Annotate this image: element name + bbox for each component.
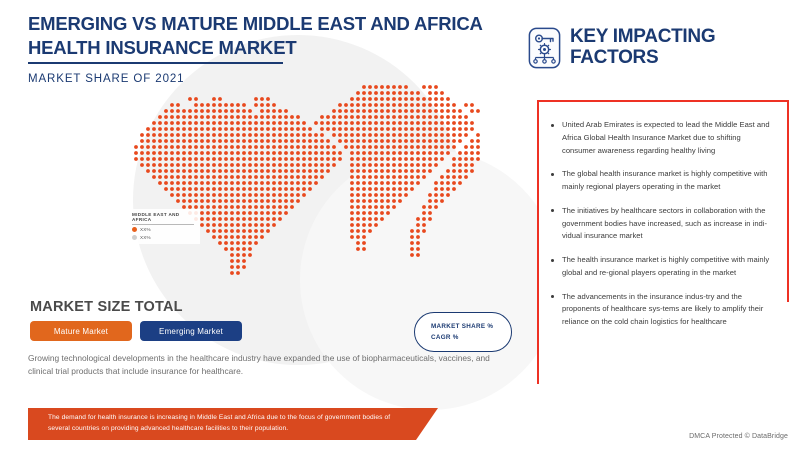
key-factors-list: United Arab Emirates is expected to lead… [551,119,774,329]
title-line-2: HEALTH INSURANCE MARKET [28,36,498,60]
description-paragraph: Growing technological developments in th… [28,352,490,379]
callout-line-1: MARKET SHARE % [431,321,495,332]
list-item: The advancements in the insurance indus-… [551,291,774,329]
title-underline [28,62,283,64]
key-gear-network-icon [528,27,561,69]
legend-row: XX% [132,235,194,240]
title-line-1: EMERGING VS MATURE MIDDLE EAST AND AFRIC… [28,12,498,36]
bullet-icon [551,254,562,280]
chip-mature-market[interactable]: Mature Market [30,321,132,341]
dotted-world-map [120,75,480,320]
orange-dot-icon [132,227,137,232]
legend-value: XX% [140,235,151,240]
bullet-icon [551,205,562,243]
left-section: EMERGING VS MATURE MIDDLE EAST AND AFRIC… [0,0,515,450]
key-factors-title-line-2: FACTORS [570,48,715,69]
legend-row: XX% [132,227,194,232]
market-share-callout: MARKET SHARE % CAGR % [414,312,512,352]
list-item: The health insurance market is highly co… [551,254,774,280]
list-item: The global health insurance market is hi… [551,168,774,194]
market-legend-chips: Mature Market Emerging Market [30,321,242,341]
bullet-icon [551,291,562,329]
legend-title: MIDDLE EAST AND AFRICA [132,212,194,225]
legend-value: XX% [140,227,151,232]
infographic-page: EMERGING VS MATURE MIDDLE EAST AND AFRIC… [0,0,800,450]
factor-text: The health insurance market is highly co… [562,254,774,280]
factor-text: United Arab Emirates is expected to lead… [562,119,774,157]
factor-text: The global health insurance market is hi… [562,168,774,194]
banner-text: The demand for health insurance is incre… [28,413,438,434]
key-factors-title: KEY IMPACTING FACTORS [570,27,715,68]
chip-emerging-market[interactable]: Emerging Market [140,321,242,341]
dmca-notice: DMCA Protected © DataBridge [689,433,788,440]
world-map-icon [120,75,480,320]
list-item: United Arab Emirates is expected to lead… [551,119,774,157]
callout-line-2: CAGR % [431,332,495,343]
key-factors-title-line-1: KEY IMPACTING [570,27,715,48]
right-section: KEY IMPACTING FACTORS United Arab Emirat… [515,0,800,450]
map-legend: MIDDLE EAST AND AFRICA XX% XX% [128,209,200,244]
factor-text: The advancements in the insurance indus-… [562,291,774,329]
highlight-banner: The demand for health insurance is incre… [28,408,438,440]
bullet-icon [551,119,562,157]
market-size-heading: MARKET SIZE TOTAL [30,299,183,315]
factor-text: The initiatives by healthcare sectors in… [562,205,774,243]
grey-dot-icon [132,235,137,240]
bullet-icon [551,168,562,194]
key-factors-header: KEY IMPACTING FACTORS [528,27,715,69]
list-item: The initiatives by healthcare sectors in… [551,205,774,243]
key-factors-panel: United Arab Emirates is expected to lead… [537,100,789,418]
